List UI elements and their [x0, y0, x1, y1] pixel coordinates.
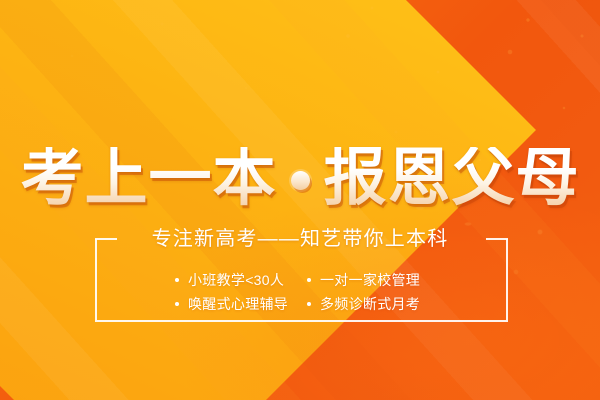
headline-left-text: 考上一本	[21, 147, 277, 210]
feature-item: 多频诊断式月考	[307, 296, 445, 312]
dot-separator-icon	[291, 171, 310, 190]
bullet-dot-icon	[307, 278, 311, 282]
bullet-dot-icon	[175, 278, 179, 282]
bullet-dot-icon	[307, 302, 311, 306]
headline: 考上一本 报恩父母	[0, 140, 600, 216]
feature-label: 小班教学<30人	[188, 272, 284, 288]
feature-label: 多频诊断式月考	[320, 296, 420, 312]
feature-item: 唤醒式心理辅导	[175, 296, 307, 312]
feature-item: 一对一家校管理	[307, 272, 445, 288]
headline-right-text: 报恩父母	[324, 147, 580, 210]
feature-list: 小班教学<30人 一对一家校管理 唤醒式心理辅导 多频诊断式月考	[175, 268, 445, 316]
promo-banner: 考上一本 报恩父母 专注新高考——知艺带你上本科 小班教学<30人 一对一家校管…	[0, 0, 600, 400]
feature-label: 唤醒式心理辅导	[188, 296, 288, 312]
feature-label: 一对一家校管理	[320, 272, 420, 288]
subtitle: 专注新高考——知艺带你上本科	[0, 228, 600, 250]
feature-item: 小班教学<30人	[175, 272, 307, 288]
bullet-dot-icon	[175, 302, 179, 306]
